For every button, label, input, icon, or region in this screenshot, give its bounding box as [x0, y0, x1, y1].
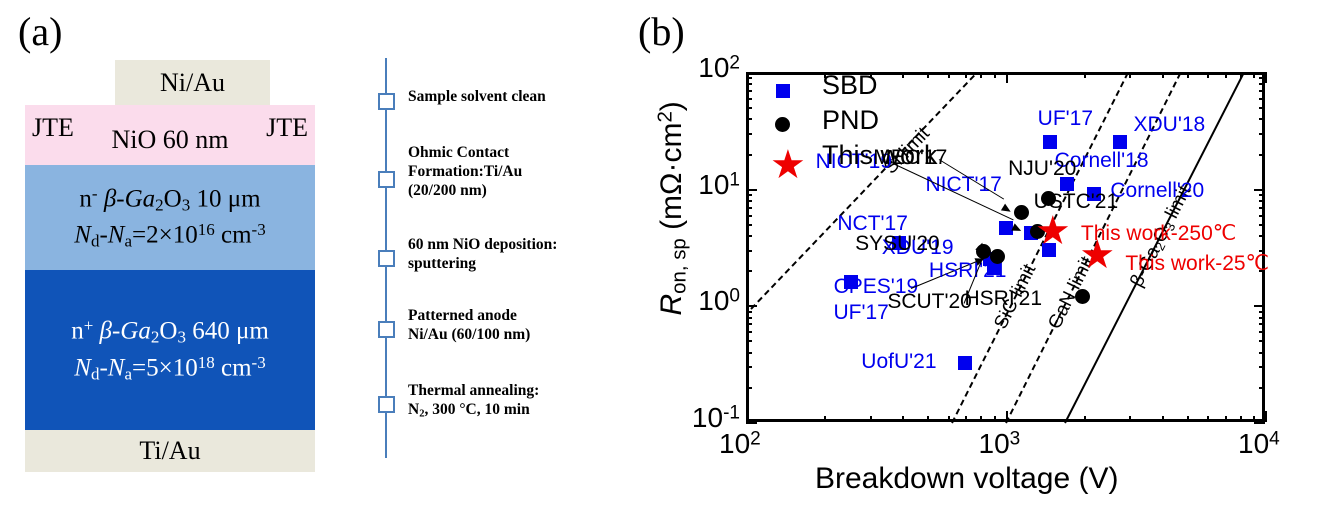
legend-label-pnd: PND — [822, 105, 879, 136]
x-tick-top — [1265, 72, 1267, 83]
layer-n-plus-substrate: n+ β-Ga2O3 640 μm Nd-Na=5×1018 cm-3 — [25, 270, 315, 430]
layer-n-minus-drift: n- β-Ga2O3 10 μm Nd-Na=2×1016 cm-3 — [25, 165, 315, 270]
substrate-composition-line: n+ β-Ga2O3 640 μm — [71, 316, 269, 347]
x-axis-title: Breakdown voltage (V) — [815, 462, 1119, 496]
panel-a-device-structure: (a) Ni/Au JTE JTE NiO 60 nm n- β-Ga2O3 1… — [0, 0, 630, 508]
y-tick-right — [1254, 422, 1265, 424]
layer-cathode-metal: Ti/Au — [25, 430, 315, 472]
flow-node-4 — [378, 321, 395, 338]
flow-node-3 — [378, 250, 395, 267]
flow-step-3: 60 nm NiO deposition: sputtering — [408, 236, 623, 274]
drift-composition-line: n- β-Ga2O3 10 μm — [79, 184, 260, 215]
legend-marker-sbd — [776, 84, 790, 98]
flow-step-4: Patterned anode Ni/Au (60/100 nm) — [408, 307, 623, 345]
figure-root: (a) Ni/Au JTE JTE NiO 60 nm n- β-Ga2O3 1… — [0, 0, 1328, 508]
layer-anode-metal: Ni/Au — [115, 60, 270, 105]
device-cross-section: Ni/Au JTE JTE NiO 60 nm n- β-Ga2O3 10 μm… — [25, 60, 315, 475]
layer-cathode-metal-label: Ti/Au — [139, 436, 200, 466]
y-tick — [746, 422, 757, 424]
flow-node-1 — [378, 93, 395, 110]
legend-label-this-work: This work — [822, 140, 938, 171]
flow-step-5: Thermal annealing: N2, 300 °C, 10 min — [408, 382, 623, 421]
flow-step-5-line2: N2, 300 °C, 10 min — [408, 401, 623, 421]
layer-nio: JTE JTE NiO 60 nm — [25, 105, 315, 165]
flow-step-1: Sample solvent clean — [408, 88, 623, 107]
x-tick-label: 102 — [719, 428, 761, 460]
panel-b-benchmark-chart: (b) Breakdown voltage (V) Ron, sp (mΩ·cm… — [630, 0, 1328, 508]
panel-a-label: (a) — [18, 8, 62, 55]
x-tick-label: 103 — [979, 428, 1021, 460]
legend-marker-pnd — [775, 117, 790, 132]
layer-nio-label: NiO 60 nm — [112, 125, 229, 155]
flow-node-2 — [378, 171, 395, 188]
x-tick-label: 104 — [1238, 428, 1280, 460]
process-flow-chart: Sample solvent clean Ohmic Contact Forma… — [378, 58, 628, 470]
drift-doping-line: Nd-Na=2×1016 cm-3 — [74, 220, 265, 251]
flow-step-2: Ohmic Contact Formation:Ti/Au (20/200 nm… — [408, 144, 623, 201]
y-axis-title: Ron, sp (mΩ·cm2) — [655, 43, 692, 373]
substrate-doping-line: Nd-Na=5×1018 cm-3 — [74, 353, 265, 384]
legend-label-sbd: SBD — [822, 70, 878, 101]
layer-anode-metal-label: Ni/Au — [160, 68, 225, 98]
x-tick — [1265, 411, 1267, 422]
y-tick-label: 10-1 — [680, 402, 740, 434]
flow-node-5 — [378, 396, 395, 413]
